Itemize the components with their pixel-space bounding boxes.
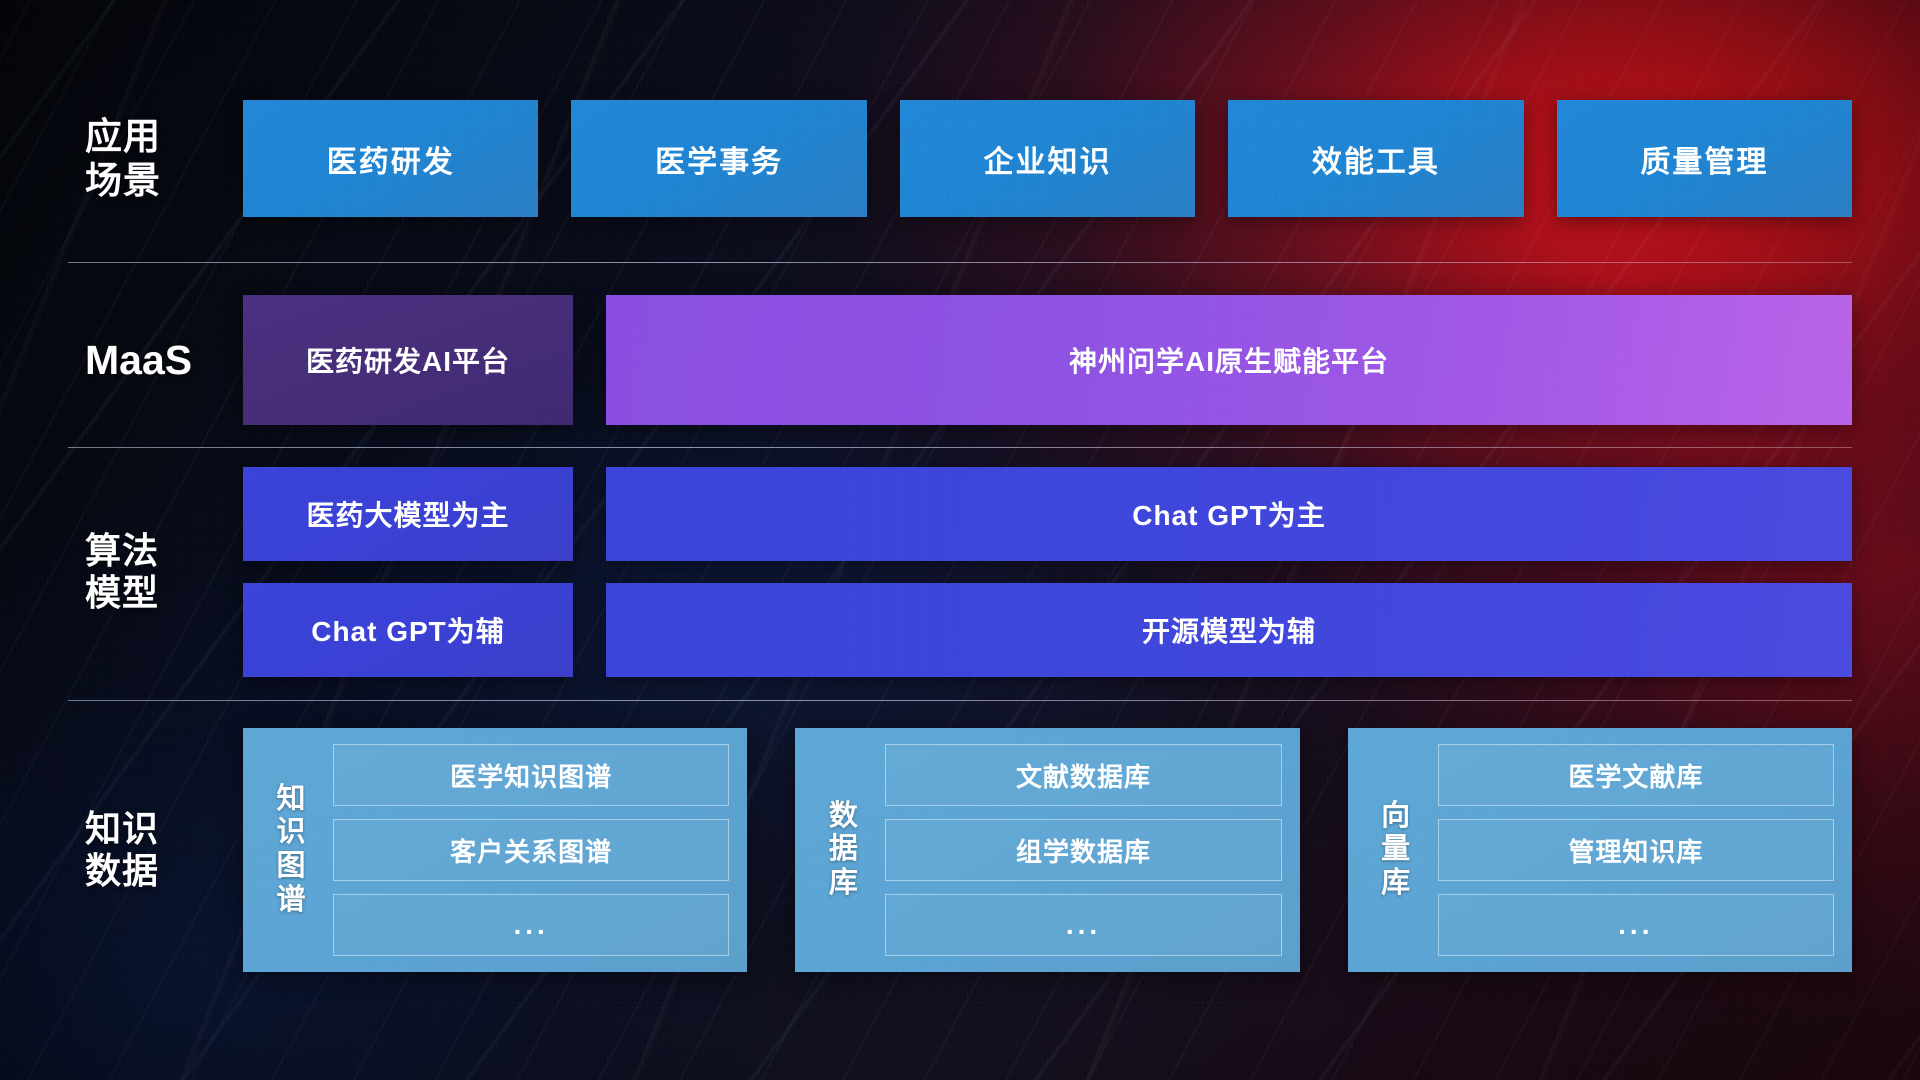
- vertical-label-char: 知: [276, 783, 305, 817]
- row-label-algorithm-line-1: 算法: [85, 530, 243, 572]
- knowledge-item-more[interactable]: ...: [333, 894, 729, 956]
- knowledge-item[interactable]: 客户关系图谱: [333, 819, 729, 881]
- algorithm-box-medical-llm-primary[interactable]: 医药大模型为主: [243, 467, 573, 561]
- layer-row-algorithm-models: 算法 模型 医药大模型为主 Chat GPT为主 Chat: [68, 467, 1852, 677]
- knowledge-item-list: 医学知识图谱 客户关系图谱 ...: [333, 744, 729, 956]
- vertical-label-char: 数: [829, 800, 858, 834]
- layer-row-knowledge-data: 知识 数据 知 识 图 谱 医学知识图谱 客户: [68, 728, 1852, 972]
- knowledge-panel-vertical-label: 数 据 库: [817, 744, 869, 956]
- algorithm-box-chatgpt-primary[interactable]: Chat GPT为主: [606, 467, 1852, 561]
- divider-maas-algorithm: [68, 447, 1852, 448]
- knowledge-item-list: 文献数据库 组学数据库 ...: [885, 744, 1281, 956]
- slide-canvas: 应用 场景 医药研发 医学事务 企业知识 效能工具: [0, 0, 1920, 1080]
- algorithm-box-opensource-secondary[interactable]: 开源模型为辅: [606, 583, 1852, 677]
- application-box-medical-affairs[interactable]: 医学事务: [571, 100, 866, 217]
- vertical-label-char: 据: [829, 833, 858, 867]
- vertical-label-char: 识: [276, 816, 305, 850]
- applications-body: 医药研发 医学事务 企业知识 效能工具 质量管理: [243, 100, 1852, 217]
- application-box-enterprise-knowledge[interactable]: 企业知识: [900, 100, 1195, 217]
- knowledge-item[interactable]: 医学知识图谱: [333, 744, 729, 806]
- vertical-label-char: 向: [1381, 800, 1410, 834]
- row-label-knowledge-line-2: 数据: [85, 850, 243, 892]
- algorithm-box-label: Chat GPT为辅: [311, 610, 505, 650]
- vertical-label-char: 库: [829, 867, 858, 901]
- algorithm-box-label: Chat GPT为主: [1132, 494, 1326, 534]
- maas-box-drug-rd-ai-platform[interactable]: 医药研发AI平台: [243, 295, 573, 425]
- row-label-knowledge-data: 知识 数据: [68, 808, 243, 893]
- knowledge-item-more[interactable]: ...: [1438, 894, 1834, 956]
- application-box-efficiency-tools[interactable]: 效能工具: [1228, 100, 1523, 217]
- knowledge-panel-database[interactable]: 数 据 库 文献数据库 组学数据库 ...: [795, 728, 1299, 972]
- knowledge-panel-vector-store[interactable]: 向 量 库 医学文献库 管理知识库 ...: [1348, 728, 1852, 972]
- row-label-algorithm-models: 算法 模型: [68, 530, 243, 615]
- algorithm-body: 医药大模型为主 Chat GPT为主 Chat GPT为辅 开源模型为辅: [243, 467, 1852, 677]
- layer-row-maas: MaaS 医药研发AI平台 神州问学AI原生赋能平台: [68, 295, 1852, 425]
- application-box-quality-management[interactable]: 质量管理: [1557, 100, 1852, 217]
- application-box-label: 企业知识: [984, 137, 1112, 181]
- knowledge-item-more[interactable]: ...: [885, 894, 1281, 956]
- knowledge-item[interactable]: 组学数据库: [885, 819, 1281, 881]
- layer-row-applications: 应用 场景 医药研发 医学事务 企业知识 效能工具: [68, 100, 1852, 217]
- vertical-label-char: 图: [276, 850, 305, 884]
- knowledge-item-list: 医学文献库 管理知识库 ...: [1438, 744, 1834, 956]
- knowledge-panel-knowledge-graph[interactable]: 知 识 图 谱 医学知识图谱 客户关系图谱 ...: [243, 728, 747, 972]
- divider-algorithm-knowledge: [68, 700, 1852, 701]
- knowledge-panel-grid: 知 识 图 谱 医学知识图谱 客户关系图谱 ...: [243, 728, 1852, 972]
- row-label-applications-line-2: 场景: [85, 159, 243, 203]
- knowledge-item[interactable]: 管理知识库: [1438, 819, 1834, 881]
- application-box-grid: 医药研发 医学事务 企业知识 效能工具 质量管理: [243, 100, 1852, 217]
- knowledge-item[interactable]: 医学文献库: [1438, 744, 1834, 806]
- row-label-knowledge-line-1: 知识: [85, 808, 243, 850]
- application-box-label: 质量管理: [1640, 137, 1768, 181]
- knowledge-panel-vertical-label: 知 识 图 谱: [265, 744, 317, 956]
- algorithm-box-chatgpt-secondary[interactable]: Chat GPT为辅: [243, 583, 573, 677]
- vertical-label-char: 库: [1381, 867, 1410, 901]
- row-label-maas: MaaS: [68, 336, 243, 384]
- algorithm-box-label: 开源模型为辅: [1142, 610, 1316, 650]
- algorithm-bar-row-primary: 医药大模型为主 Chat GPT为主: [243, 467, 1852, 561]
- vertical-label-char: 量: [1381, 833, 1410, 867]
- knowledge-item[interactable]: 文献数据库: [885, 744, 1281, 806]
- knowledge-panel-vertical-label: 向 量 库: [1370, 744, 1422, 956]
- application-box-label: 医学事务: [655, 137, 783, 181]
- maas-box-label: 神州问学AI原生赋能平台: [1069, 340, 1389, 380]
- row-label-algorithm-line-2: 模型: [85, 572, 243, 614]
- maas-box-label: 医药研发AI平台: [306, 340, 510, 380]
- algorithm-bar-row-secondary: Chat GPT为辅 开源模型为辅: [243, 583, 1852, 677]
- vertical-label-char: 谱: [276, 884, 305, 918]
- row-label-applications: 应用 场景: [68, 115, 243, 202]
- maas-box-shenzhou-wenxue-platform[interactable]: 神州问学AI原生赋能平台: [606, 295, 1852, 425]
- row-label-applications-line-1: 应用: [85, 115, 243, 159]
- divider-applications-maas: [68, 262, 1852, 263]
- algorithm-box-label: 医药大模型为主: [306, 494, 509, 534]
- application-box-drug-rd[interactable]: 医药研发: [243, 100, 538, 217]
- application-box-label: 医药研发: [327, 137, 455, 181]
- application-box-label: 效能工具: [1312, 137, 1440, 181]
- architecture-diagram: 应用 场景 医药研发 医学事务 企业知识 效能工具: [0, 0, 1920, 1080]
- maas-body: 医药研发AI平台 神州问学AI原生赋能平台: [243, 295, 1852, 425]
- knowledge-body: 知 识 图 谱 医学知识图谱 客户关系图谱 ...: [243, 728, 1852, 972]
- algorithm-bar-stack: 医药大模型为主 Chat GPT为主 Chat GPT为辅 开源模型为辅: [243, 467, 1852, 677]
- row-label-maas-line-1: MaaS: [85, 336, 243, 384]
